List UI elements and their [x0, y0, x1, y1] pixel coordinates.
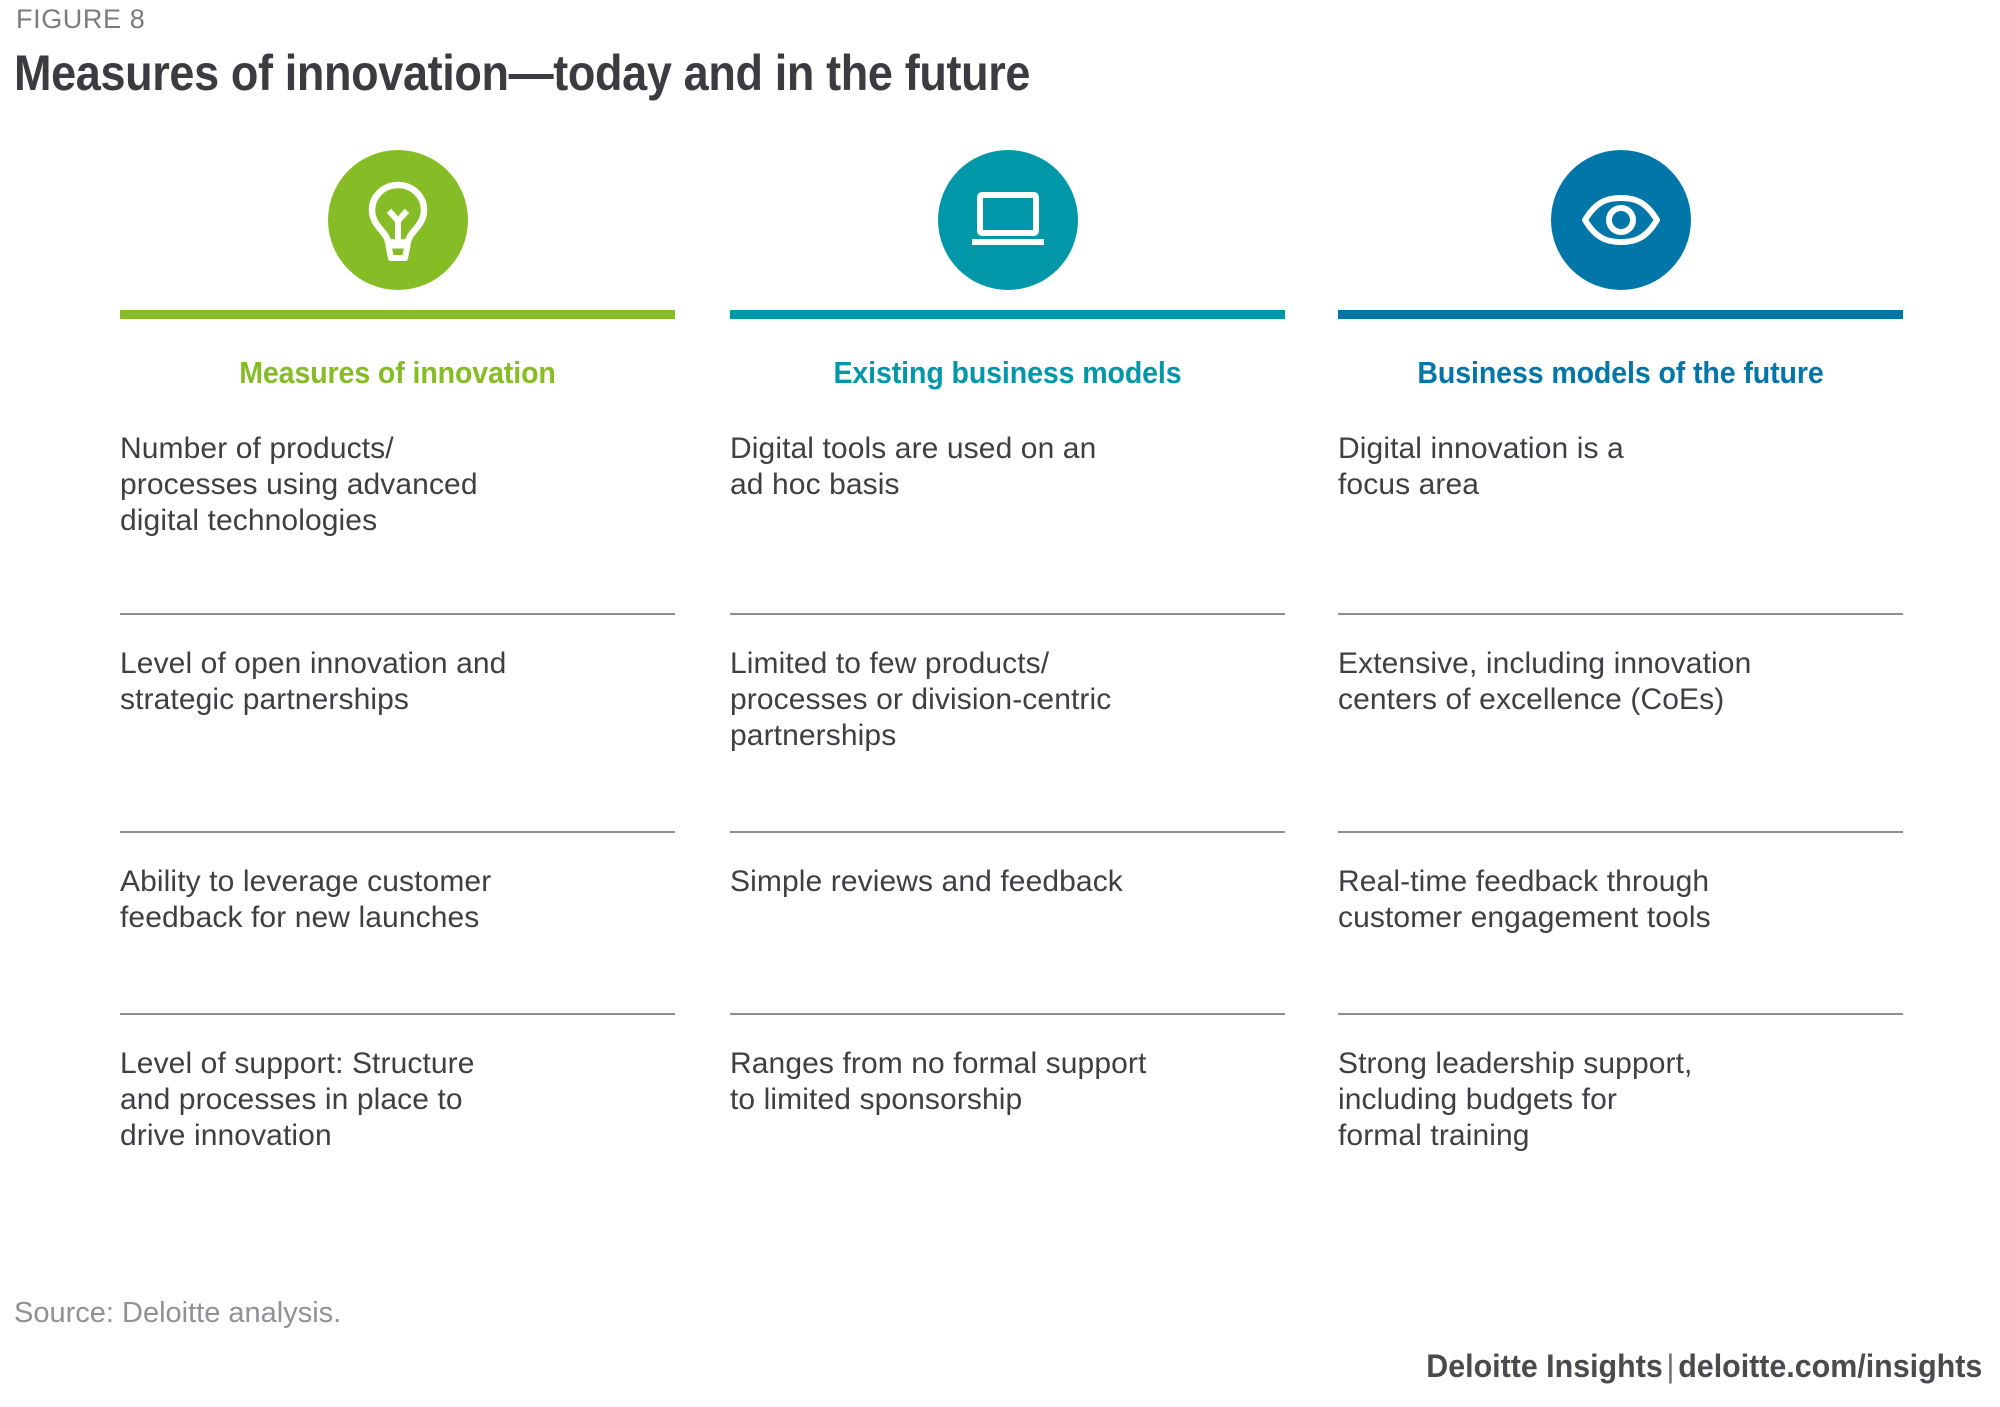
- cell-line: Strong leadership support,: [1338, 1046, 1903, 1082]
- icon-wrap: [120, 150, 675, 300]
- figure-container: FIGURE 8 Measures of innovation—today an…: [0, 0, 2000, 1407]
- cell-line: feedback for new launches: [120, 900, 675, 936]
- cell-line: Level of support: Structure: [120, 1046, 675, 1082]
- cell-line: drive innovation: [120, 1118, 675, 1154]
- cell-line: formal training: [1338, 1118, 1903, 1154]
- column-existing-business-models: Existing business models Digital tools a…: [730, 150, 1285, 1216]
- cell-line: customer engagement tools: [1338, 900, 1903, 936]
- source-note: Source: Deloitte analysis.: [14, 1297, 341, 1330]
- accent-rule: [730, 310, 1285, 319]
- figure-label: FIGURE 8: [16, 4, 145, 35]
- column-measures-of-innovation: Measures of innovation Number of product…: [120, 150, 675, 1216]
- brand-url: deloitte.com/insights: [1678, 1348, 1982, 1384]
- cell-line: Level of open innovation and: [120, 646, 675, 682]
- column-header-label: Business models of the future: [1361, 355, 1881, 391]
- cell-line: including budgets for: [1338, 1082, 1903, 1118]
- cell-line: ad hoc basis: [730, 467, 1285, 503]
- lightbulb-icon-circle: [328, 150, 468, 290]
- cell-line: Ranges from no formal support: [730, 1046, 1285, 1082]
- cell-divider: [1338, 613, 1903, 615]
- cells-list: Number of products/ processes using adva…: [120, 431, 675, 1216]
- cell-divider: [730, 831, 1285, 833]
- cell: Digital tools are used on an ad hoc basi…: [730, 431, 1285, 613]
- column-header-label: Measures of innovation: [142, 355, 653, 391]
- cell-divider: [1338, 831, 1903, 833]
- cell: Strong leadership support, including bud…: [1338, 1046, 1903, 1216]
- cell: Ability to leverage customer feedback fo…: [120, 864, 675, 1013]
- laptop-icon-circle: [938, 150, 1078, 290]
- page-title: Measures of innovation—today and in the …: [14, 44, 1030, 102]
- cell-divider: [120, 1013, 675, 1015]
- cell-divider: [120, 831, 675, 833]
- cell-line: Simple reviews and feedback: [730, 864, 1285, 900]
- cell-line: digital technologies: [120, 503, 675, 539]
- laptop-icon: [968, 189, 1048, 251]
- cell-line: processes using advanced: [120, 467, 675, 503]
- cell-line: processes or division-centric: [730, 682, 1285, 718]
- cell-line: and processes in place to: [120, 1082, 675, 1118]
- cell-line: Number of products/: [120, 431, 675, 467]
- cell-divider: [730, 1013, 1285, 1015]
- column-business-models-of-the-future: Business models of the future Digital in…: [1338, 150, 1903, 1216]
- icon-wrap: [730, 150, 1285, 300]
- cell: Ranges from no formal support to limited…: [730, 1046, 1285, 1216]
- cell-line: Digital tools are used on an: [730, 431, 1285, 467]
- cell: Digital innovation is a focus area: [1338, 431, 1903, 613]
- cell: Level of open innovation and strategic p…: [120, 646, 675, 831]
- cell: Level of support: Structure and processe…: [120, 1046, 675, 1216]
- cells-list: Digital innovation is a focus area Exten…: [1338, 431, 1903, 1216]
- cell-line: focus area: [1338, 467, 1903, 503]
- accent-rule: [120, 310, 675, 319]
- cell-line: partnerships: [730, 718, 1285, 754]
- eye-icon-circle: [1551, 150, 1691, 290]
- cell-line: Extensive, including innovation: [1338, 646, 1903, 682]
- cell-divider: [730, 613, 1285, 615]
- cell-divider: [120, 613, 675, 615]
- cell: Limited to few products/ processes or di…: [730, 646, 1285, 831]
- cell-line: Digital innovation is a: [1338, 431, 1903, 467]
- cell-line: strategic partnerships: [120, 682, 675, 718]
- lightbulb-icon: [361, 179, 435, 261]
- cell: Number of products/ processes using adva…: [120, 431, 675, 613]
- icon-wrap: [1338, 150, 1903, 300]
- cell-line: centers of excellence (CoEs): [1338, 682, 1903, 718]
- cell-line: Real-time feedback through: [1338, 864, 1903, 900]
- cell: Simple reviews and feedback: [730, 864, 1285, 1013]
- eye-icon: [1579, 194, 1663, 246]
- cell: Extensive, including innovation centers …: [1338, 646, 1903, 831]
- cell-line: Ability to leverage customer: [120, 864, 675, 900]
- brand-name: Deloitte Insights: [1426, 1348, 1662, 1384]
- deloitte-insights-footer: Deloitte Insights|deloitte.com/insights: [1426, 1348, 1982, 1385]
- cells-list: Digital tools are used on an ad hoc basi…: [730, 431, 1285, 1216]
- accent-rule: [1338, 310, 1903, 319]
- cell: Real-time feedback through customer enga…: [1338, 864, 1903, 1013]
- cell-divider: [1338, 1013, 1903, 1015]
- cell-line: Limited to few products/: [730, 646, 1285, 682]
- footer-separator: |: [1662, 1348, 1677, 1384]
- cell-line: to limited sponsorship: [730, 1082, 1285, 1118]
- column-header-label: Existing business models: [752, 355, 1263, 391]
